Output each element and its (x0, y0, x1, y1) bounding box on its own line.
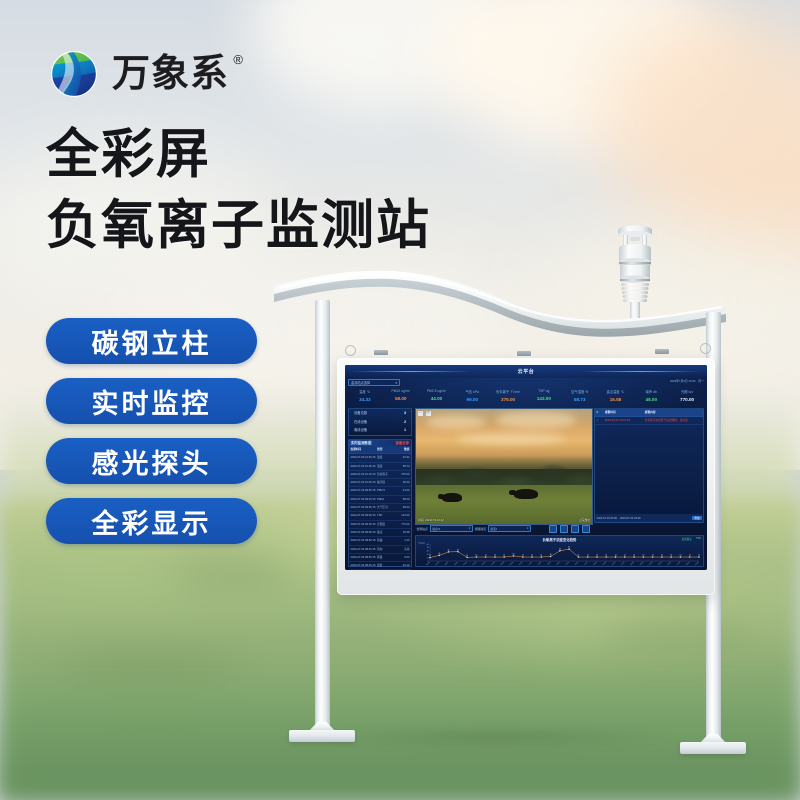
svg-text:16:00: 16:00 (574, 562, 579, 566)
metric-temperature: 温度 ℃ 34.32 (347, 389, 383, 405)
monitoring-station-product: 云平台 监测站点选择 ▾ 2023年7月3日 10:36 周一 温度 (0, 0, 800, 800)
camera-channel-label: 视频通道 (475, 527, 486, 531)
alarm-content: 负氧离子浓度低于设定阈值，请注意 (645, 417, 702, 424)
svg-text:60: 60 (427, 544, 430, 546)
cell-type: 露点 (377, 529, 394, 536)
records-panel-title: 实时监测数据 (351, 441, 371, 445)
camera-watermark: 山东潍坊 (579, 518, 590, 522)
table-row[interactable]: 2023-07-03 09:30:15大气压力99.00 (349, 504, 411, 512)
metric-label: 气压 kPa (454, 389, 490, 394)
camera-site-select[interactable]: 站点01 ▾ (430, 525, 473, 533)
camera-cow (442, 493, 462, 502)
svg-text:17:00: 17:00 (584, 562, 589, 566)
cell-type: 温度 (377, 562, 394, 569)
table-row[interactable]: 2023-07-03 09:20:15TSP143.00 (349, 512, 411, 520)
svg-text:12:00: 12:00 (537, 562, 542, 566)
cell-value: 99.00 (394, 504, 410, 511)
trend-chart-panel: 负氧离子浓度变化趋势 负氧离子 TSP 个/cm³ 01224364860122… (415, 535, 704, 567)
metric-value: 48.00 (633, 397, 669, 402)
svg-text:14: 14 (475, 555, 477, 557)
svg-text:19:00: 19:00 (602, 562, 607, 566)
svg-text:11:00: 11:00 (528, 562, 533, 566)
svg-text:07:00: 07:00 (491, 562, 496, 566)
svg-text:02:00: 02:00 (445, 562, 450, 566)
cell-value: 58.00 (394, 496, 410, 503)
table-row[interactable]: 2023-07-03 09:50:15PM2.544.00 (349, 487, 411, 495)
summary-value: 2 (404, 418, 406, 427)
cell-time: 2023-07-03 08:40:15 (351, 546, 378, 553)
svg-text:15:00: 15:00 (565, 562, 570, 566)
svg-text:14: 14 (522, 555, 524, 557)
cell-type: TSP (377, 512, 394, 519)
pause-button[interactable] (560, 525, 568, 533)
svg-text:32: 32 (448, 550, 450, 552)
clock-datetime: 2023年7月3日 10:36 (670, 379, 696, 383)
camera-cow-head (509, 490, 516, 495)
metric-label: 光照 lux (669, 389, 705, 394)
camera-site-label: 监测站点 (417, 527, 428, 531)
alarm-time: 2023-07-03 10:12:18 (605, 417, 645, 424)
svg-text:04:00: 04:00 (463, 562, 468, 566)
camera-timestamp-label: 时间: (418, 518, 424, 522)
clock-weekday: 周一 (698, 379, 704, 383)
metric-pressure: 气压 kPa 99.00 (454, 389, 490, 405)
cell-type: PM10 (377, 496, 394, 503)
summary-value: 3 (404, 409, 406, 418)
cell-type: 大气压力 (377, 504, 394, 511)
alarm-list-panel: # 报警时间 报警内容 1 2023-07-03 10:12:18 负氧离子浓度… (594, 408, 704, 523)
cell-type: 光照度 (377, 521, 394, 528)
svg-text:14: 14 (615, 555, 617, 557)
svg-text:10:00: 10:00 (519, 562, 524, 566)
cell-time: 2023-07-03 10:10:15 (351, 471, 378, 478)
svg-text:24:00: 24:00 (649, 562, 654, 566)
svg-text:13:00: 13:00 (547, 562, 552, 566)
metric-value: 44.00 (419, 396, 455, 401)
led-display-cabinet: 云平台 监测站点选择 ▾ 2023年7月3日 10:36 周一 温度 (337, 358, 715, 595)
metric-value: 34.32 (347, 397, 383, 402)
svg-text:36: 36 (559, 548, 561, 550)
hanger-ring-left (345, 345, 356, 356)
cell-time: 2023-07-03 09:10:15 (351, 521, 378, 528)
play-button[interactable] (549, 525, 557, 533)
records-col-time: 监测时间 (351, 446, 378, 453)
cell-type: 风向 (377, 546, 394, 553)
svg-text:25:00: 25:00 (658, 562, 663, 566)
base-plate (289, 730, 355, 742)
metric-label: PM10 ug/m³ (383, 389, 419, 393)
table-row[interactable]: 2023-07-03 10:00:15噪声值48.00 (349, 479, 411, 487)
svg-text:14: 14 (670, 555, 672, 557)
svg-text:03:00: 03:00 (454, 562, 459, 566)
metric-pm10: PM10 ug/m³ 58.00 (383, 389, 419, 405)
camera-cloud (426, 415, 486, 429)
cell-value: 58.73 (394, 463, 410, 470)
camera-cloud (496, 411, 576, 429)
svg-text:18:00: 18:00 (593, 562, 598, 566)
metric-value: 58.00 (383, 396, 419, 401)
led-screen[interactable]: 云平台 监测站点选择 ▾ 2023年7月3日 10:36 周一 温度 (345, 365, 707, 570)
metric-value: 143.00 (526, 396, 562, 401)
camera-cloud (456, 433, 566, 445)
cell-time: 2023-07-03 09:30:15 (351, 504, 378, 511)
alarm-start-time[interactable]: 2023-07-03 00:00 (597, 517, 617, 520)
cell-value: 16.58 (394, 529, 410, 536)
metric-label: 空气湿度 % (562, 389, 598, 394)
svg-text:36: 36 (427, 551, 430, 553)
records-col-type: 类型 (377, 446, 394, 453)
camera-channel-value: 通道1 (490, 527, 497, 531)
table-row[interactable]: 2023-07-03 09:40:15PM1058.00 (349, 496, 411, 504)
dashboard-clock: 2023年7月3日 10:36 周一 (670, 379, 704, 383)
summary-row: 离线设备 1 (349, 426, 411, 435)
cell-time: 2023-07-03 08:20:15 (351, 562, 378, 569)
cell-time: 2023-07-03 10:20:15 (351, 463, 378, 470)
metric-dew-point: 露点温度 ℃ 16.58 (598, 389, 634, 405)
svg-text:05:00: 05:00 (472, 562, 477, 566)
table-row[interactable]: 2023-07-03 08:20:15温度33.10 (349, 562, 411, 570)
cell-value: 34.32 (394, 454, 410, 461)
summary-label: 离线设备 (354, 426, 367, 435)
anchor-base-left (289, 722, 355, 742)
svg-text:21:00: 21:00 (621, 562, 626, 566)
camera-timestamp: 时间: 2022/7/3 16:42 (418, 518, 444, 522)
summary-label: 在线设备 (354, 418, 367, 427)
table-row[interactable]: 2023-07-03 10:30:15温度34.32 (349, 454, 411, 462)
table-row[interactable]: 2023-07-03 10:20:15湿度58.73 (349, 463, 411, 471)
cell-time: 2023-07-03 09:50:15 (351, 487, 378, 494)
cell-value: 33.10 (394, 562, 410, 569)
cell-time: 2023-07-03 10:30:15 (351, 454, 378, 461)
metric-value: 99.00 (454, 397, 490, 402)
svg-text:14: 14 (531, 555, 533, 557)
cell-value: 143.00 (394, 512, 410, 519)
svg-text:16: 16 (550, 554, 552, 556)
svg-text:14: 14 (661, 555, 663, 557)
cell-type: 湿度 (377, 463, 394, 470)
cell-type: 负氧离子 (377, 471, 394, 478)
metric-label: 温度 ℃ (347, 389, 383, 394)
svg-text:14: 14 (624, 555, 626, 557)
chevron-down-icon: ▾ (395, 381, 397, 385)
svg-text:14: 14 (642, 555, 644, 557)
camera-channel-select[interactable]: 通道1 ▾ (488, 525, 531, 533)
summary-value: 1 (404, 426, 406, 435)
svg-text:27:00: 27:00 (676, 562, 681, 566)
svg-text:14: 14 (689, 555, 691, 557)
svg-text:14: 14 (596, 555, 598, 557)
camera-cow (514, 489, 538, 499)
summary-row: 在线设备 2 (349, 418, 411, 427)
alarm-end-time[interactable]: 2023-07-03 23:59 (620, 517, 640, 520)
metric-value: 16.58 (598, 397, 634, 402)
cell-value: 48.00 (394, 479, 410, 486)
svg-text:14: 14 (587, 555, 589, 557)
records-panel-header: 实时监测数据 查看全部 (349, 440, 411, 446)
metric-label: TSP ug (526, 389, 562, 393)
metric-label: PM2.5 ug/m³ (419, 389, 455, 393)
svg-text:14: 14 (503, 555, 505, 557)
cell-value: 东南 (394, 546, 410, 553)
alarm-row[interactable]: 1 2023-07-03 10:12:18 负氧离子浓度低于设定阈值，请注意 (595, 417, 703, 425)
svg-text:48: 48 (427, 547, 430, 549)
chevron-down-icon: ▾ (527, 527, 528, 530)
svg-text:29:00: 29:00 (695, 562, 700, 566)
alarm-col-index: # (597, 409, 605, 416)
alarm-header-row: # 报警时间 报警内容 (595, 409, 703, 417)
station-select[interactable]: 监测站点选择 ▾ (348, 379, 400, 386)
anchor-base-right (680, 734, 746, 754)
svg-text:14: 14 (680, 555, 682, 557)
svg-text:26:00: 26:00 (667, 562, 672, 566)
alarm-col-content: 报警内容 (645, 409, 702, 416)
cell-type: 温度 (377, 454, 394, 461)
video-surveillance-feed[interactable]: ⛶ ◎ 时间: 2022/7/3 16:42 山东潍坊 (415, 408, 593, 525)
cell-time: 2023-07-03 09:40:15 (351, 496, 378, 503)
table-row[interactable]: 2023-07-03 08:40:15风向东南 (349, 546, 411, 554)
svg-text:14: 14 (494, 555, 496, 557)
cell-value: 375.00 (394, 471, 410, 478)
camera-controls-bar[interactable]: 监测站点 站点01 ▾ 视频通道 通道1 ▾ (415, 524, 591, 533)
metric-tsp: TSP ug 143.00 (526, 389, 562, 405)
cell-type: 噪声值 (377, 479, 394, 486)
metric-illuminance: 光照 lux 770.00 (669, 389, 705, 405)
records-header-row: 监测时间 类型 数值 (349, 446, 411, 454)
svg-text:20:00: 20:00 (612, 562, 617, 566)
cell-type: 雨量 (377, 554, 394, 561)
metric-label: 露点温度 ℃ (598, 389, 634, 394)
svg-text:14: 14 (698, 555, 700, 557)
svg-text:08:00: 08:00 (500, 562, 505, 566)
svg-text:28:00: 28:00 (686, 562, 691, 566)
mount-bracket (517, 351, 531, 356)
mount-bracket (374, 350, 388, 355)
camera-site-value: 站点01 (432, 527, 440, 531)
svg-text:09:00: 09:00 (510, 562, 515, 566)
svg-text:14: 14 (605, 555, 607, 557)
ultrasonic-weather-sensor-icon (604, 222, 666, 318)
metric-label: 噪声 db (633, 389, 669, 394)
table-row[interactable]: 2023-07-03 09:00:15露点16.58 (349, 529, 411, 537)
metric-negative-oxygen-ion: 负氧离子 个/cm³ 375.00 (490, 389, 526, 405)
summary-label: 设备总数 (354, 409, 367, 418)
device-summary-panel: 设备总数 3 在线设备 2 离线设备 1 (348, 408, 412, 436)
cell-type: 风速 (377, 537, 394, 544)
hanger-ring-right (700, 343, 711, 354)
product-marketing-banner: 万象系 ® 全彩屏 负氧离子监测站 碳钢立柱 实时监控 感光探头 全彩显示 (0, 0, 800, 800)
svg-text:14: 14 (652, 555, 654, 557)
svg-text:12: 12 (429, 555, 431, 557)
records-view-all-link[interactable]: 查看全部 (395, 440, 409, 446)
metric-value: 770.00 (669, 397, 705, 402)
camera-timestamp-value: 2022/7/3 16:42 (425, 518, 444, 522)
snapshot-icon[interactable]: ◎ (426, 411, 431, 416)
station-select-value: 监测站点选择 (351, 380, 370, 385)
svg-text:14: 14 (540, 555, 542, 557)
cell-value: 0.00 (394, 554, 410, 561)
svg-text:14:00: 14:00 (556, 562, 561, 566)
records-col-value: 数值 (394, 446, 410, 453)
metric-value: 58.73 (562, 397, 598, 402)
table-row[interactable]: 2023-07-03 10:10:15负氧离子375.00 (349, 471, 411, 479)
base-plate (680, 742, 746, 754)
svg-text:14: 14 (485, 555, 487, 557)
camera-overlay-icons[interactable]: ⛶ ◎ (418, 411, 431, 416)
cell-time: 2023-07-03 08:30:15 (351, 554, 378, 561)
chevron-down-icon: ▾ (469, 527, 470, 530)
metrics-strip: 温度 ℃ 34.32 PM10 ug/m³ 58.00 PM2.5 ug/m³ … (347, 389, 705, 405)
alarm-index: 1 (597, 417, 605, 424)
cell-time: 2023-07-03 08:50:15 (351, 537, 378, 544)
metric-label: 负氧离子 个/cm³ (490, 389, 526, 394)
table-row[interactable]: 2023-07-03 09:10:15光照度770.00 (349, 521, 411, 529)
alarm-col-time: 报警时间 (605, 409, 645, 416)
svg-text:33: 33 (457, 549, 459, 551)
trend-line-chart: 0122436486012203233131414141418141414163… (416, 540, 705, 568)
svg-text:14: 14 (633, 555, 635, 557)
realtime-records-panel: 实时监测数据 查看全部 监测时间 类型 数值 2023-07-03 10:30:… (348, 439, 412, 567)
metric-humidity: 空气湿度 % 58.73 (562, 389, 598, 405)
metric-noise: 噪声 db 48.00 (633, 389, 669, 405)
fullscreen-button[interactable] (582, 525, 590, 533)
svg-text:22:00: 22:00 (630, 562, 635, 566)
mount-bracket (655, 349, 669, 354)
alarm-query-bar[interactable]: 2023-07-03 00:00 2023-07-03 23:59 查询 (595, 514, 703, 522)
fullscreen-icon[interactable]: ⛶ (418, 411, 423, 416)
alarm-query-button[interactable]: 查询 (692, 516, 701, 520)
svg-text:13: 13 (466, 555, 468, 557)
table-row[interactable]: 2023-07-03 08:50:15风速1.20 (349, 537, 411, 545)
camera-cow-head (438, 494, 444, 499)
record-button[interactable] (571, 525, 579, 533)
summary-row: 设备总数 3 (349, 409, 411, 418)
svg-text:20: 20 (438, 553, 440, 555)
svg-text:01:00: 01:00 (435, 562, 440, 566)
cell-value: 770.00 (394, 521, 410, 528)
cell-type: PM2.5 (377, 487, 394, 494)
metric-pm25: PM2.5 ug/m³ 44.00 (419, 389, 455, 405)
cell-value: 1.20 (394, 537, 410, 544)
cell-time: 2023-07-03 10:00:15 (351, 479, 378, 486)
svg-text:18: 18 (513, 554, 515, 556)
cell-time: 2023-07-03 09:20:15 (351, 512, 378, 519)
dashboard-title: 云平台 (345, 368, 707, 375)
cloud-platform-dashboard[interactable]: 云平台 监测站点选择 ▾ 2023年7月3日 10:36 周一 温度 (345, 365, 707, 570)
svg-text:14: 14 (577, 555, 579, 557)
cell-value: 44.00 (394, 487, 410, 494)
carbon-steel-pole-left (315, 300, 330, 728)
cell-time: 2023-07-03 09:00:15 (351, 529, 378, 536)
svg-text:23:00: 23:00 (639, 562, 644, 566)
metric-value: 375.00 (490, 397, 526, 402)
svg-text:06:00: 06:00 (482, 562, 487, 566)
svg-text:42: 42 (568, 547, 570, 549)
table-row[interactable]: 2023-07-03 08:30:15雨量0.00 (349, 554, 411, 562)
